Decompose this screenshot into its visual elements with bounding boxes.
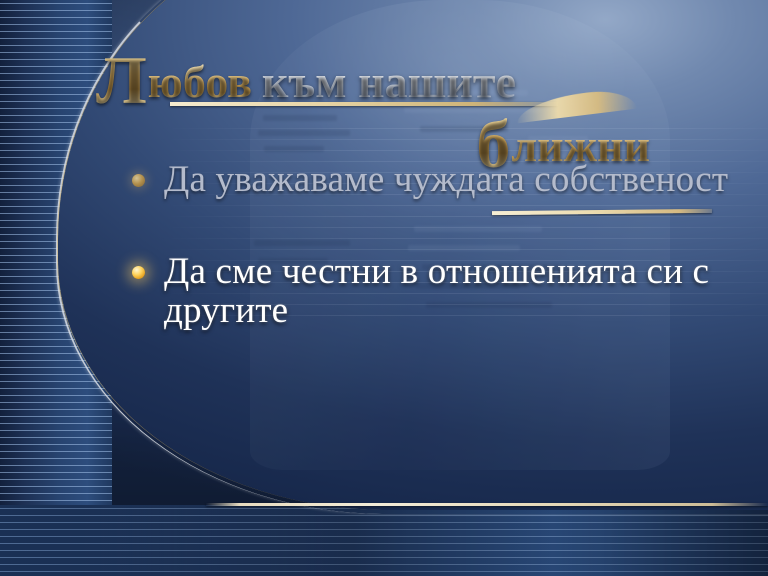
title-dropcap-1: Л bbox=[96, 42, 148, 118]
title-line-1: Любовкъм нашите bbox=[96, 46, 716, 114]
title-silver-1: към нашите bbox=[262, 56, 516, 107]
gold-dot-bullet-icon bbox=[132, 266, 145, 279]
title-gold-1: юбов bbox=[148, 56, 252, 107]
gold-dot-bullet-icon bbox=[132, 174, 145, 187]
list-item: Да сме честни в отношенията си с другите bbox=[132, 252, 732, 331]
bottom-stripe-panel bbox=[0, 505, 768, 576]
bottom-divider-rule bbox=[206, 503, 768, 506]
slide-canvas: Любовкъм нашите ближни Да уважаваме чужд… bbox=[0, 0, 768, 576]
bullet-text-1: Да уважаваме чуждата собственост bbox=[164, 160, 728, 200]
list-item: Да уважаваме чуждата собственост bbox=[132, 160, 732, 200]
bullet-text-2: Да сме честни в отношенията си с другите bbox=[164, 252, 732, 331]
bullet-list: Да уважаваме чуждата собственост Да сме … bbox=[132, 160, 732, 331]
